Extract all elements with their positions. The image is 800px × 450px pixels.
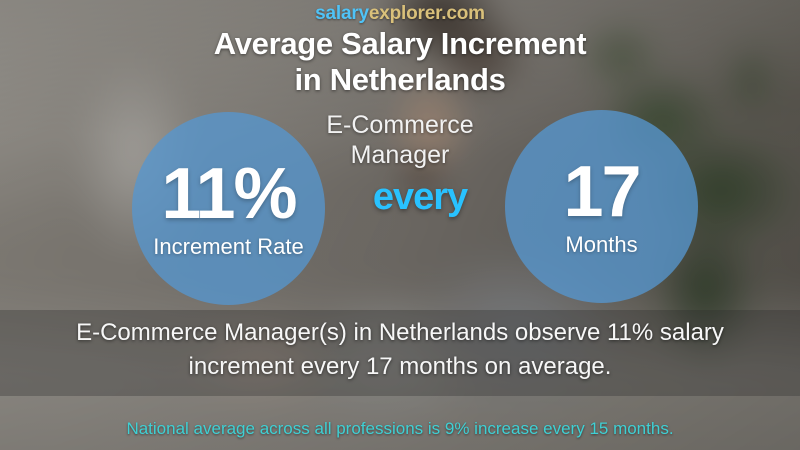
title-line-1: Average Salary Increment xyxy=(0,26,800,62)
increment-rate-value: 11% xyxy=(161,158,295,230)
title-line-2: in Netherlands xyxy=(0,62,800,98)
summary-text: E-Commerce Manager(s) in Netherlands obs… xyxy=(30,316,770,384)
logo-text-explorer: explorer.com xyxy=(369,3,485,24)
months-circle: 17 Months xyxy=(505,110,698,303)
summary-line-2: increment every 17 months on average. xyxy=(30,350,770,384)
summary-line-1: E-Commerce Manager(s) in Netherlands obs… xyxy=(30,316,770,350)
infographic-canvas: salaryexplorer.com Average Salary Increm… xyxy=(0,0,800,450)
months-label: Months xyxy=(565,232,637,258)
footer-note: National average across all professions … xyxy=(0,418,800,440)
subtitle-line-1: E-Commerce xyxy=(0,110,800,140)
increment-rate-label: Increment Rate xyxy=(153,234,303,260)
months-value: 17 xyxy=(563,156,639,228)
logo-text-salary: salary xyxy=(315,3,369,24)
site-logo[interactable]: salaryexplorer.com xyxy=(0,3,800,25)
page-title: Average Salary Increment in Netherlands xyxy=(0,26,800,98)
connector-text: every xyxy=(340,176,500,219)
increment-rate-circle: 11% Increment Rate xyxy=(132,112,325,305)
